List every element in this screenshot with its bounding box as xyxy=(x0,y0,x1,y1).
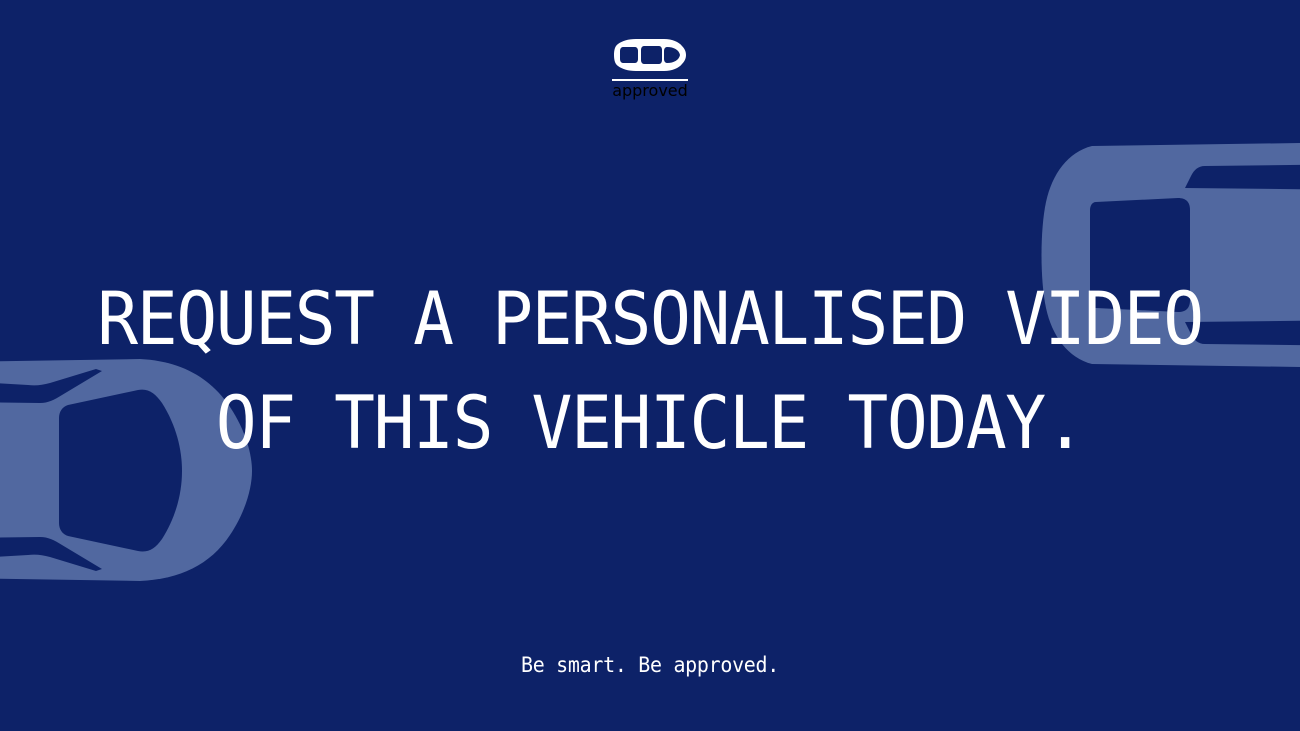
car-top-view-icon xyxy=(614,38,686,72)
logo-wordmark: approved xyxy=(612,81,688,100)
brand-logo: approved xyxy=(0,38,1300,100)
slide-canvas: approved REQUEST A PERSONALISED VIDEO OF… xyxy=(0,0,1300,731)
headline-line-1: REQUEST A PERSONALISED VIDEO xyxy=(46,268,1255,372)
tagline: Be smart. Be approved. xyxy=(33,655,1268,676)
headline-line-2: OF THIS VEHICLE TODAY. xyxy=(46,372,1255,476)
headline: REQUEST A PERSONALISED VIDEO OF THIS VEH… xyxy=(0,268,1300,476)
